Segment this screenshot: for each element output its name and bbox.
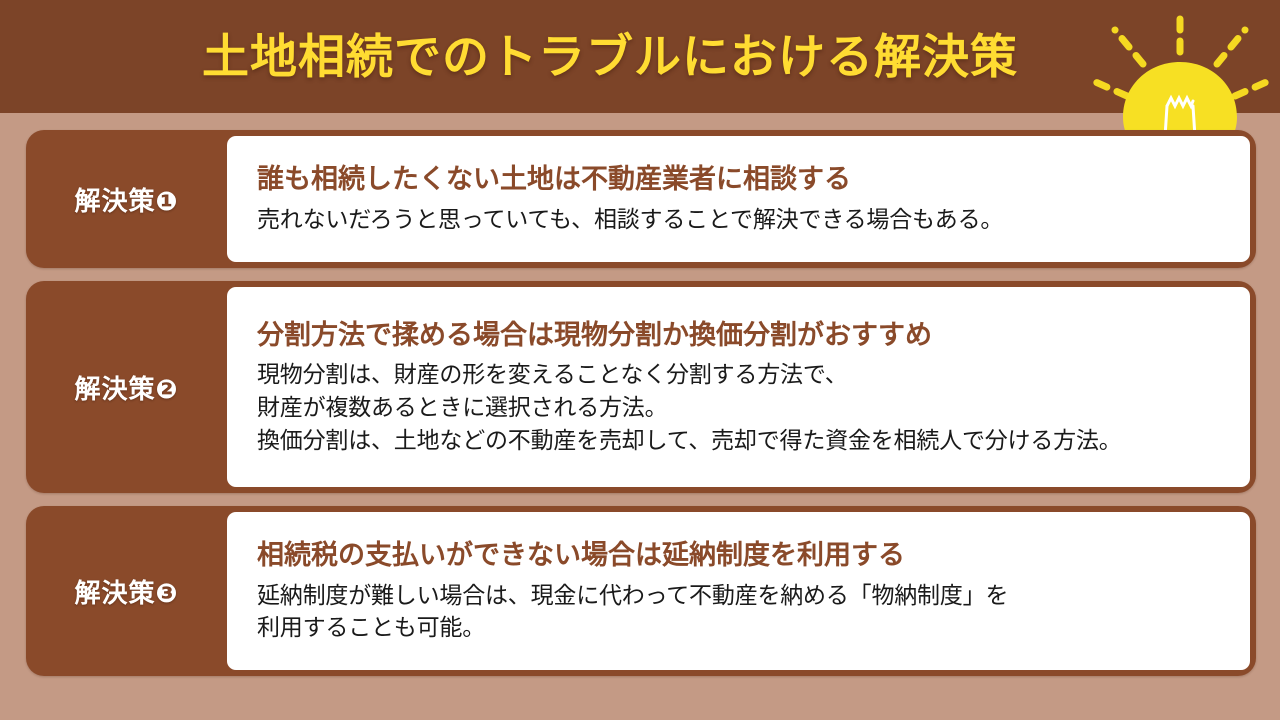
- solution-body-line: 利用することも可能。: [257, 611, 1230, 644]
- solution-card-3[interactable]: 解決策❸ 相続税の支払いができない場合は延納制度を利用する 延納制度が難しい場合…: [26, 506, 1256, 676]
- solution-panel-3: 相続税の支払いができない場合は延納制度を利用する 延納制度が難しい場合は、現金に…: [227, 512, 1250, 670]
- solution-headline-3: 相続税の支払いができない場合は延納制度を利用する: [257, 538, 1230, 573]
- page-title: 土地相続でのトラブルにおける解決策: [0, 0, 1280, 113]
- infographic-slide: 土地相続でのトラブルにおける解決策: [0, 0, 1280, 720]
- header-bar: 土地相続でのトラブルにおける解決策: [0, 0, 1280, 113]
- solution-body-line: 財産が複数あるときに選択される方法。: [257, 391, 1230, 424]
- solution-headline-1: 誰も相続したくない土地は不動産業者に相談する: [257, 162, 1230, 197]
- solution-headline-2: 分割方法で揉める場合は現物分割か換価分割がおすすめ: [257, 318, 1230, 353]
- solution-body-line: 延納制度が難しい場合は、現金に代わって不動産を納める「物納制度」を: [257, 579, 1230, 612]
- solution-badge-3: 解決策❸: [26, 506, 227, 676]
- solution-body-line: 換価分割は、土地などの不動産を売却して、売却で得た資金を相続人で分ける方法。: [257, 424, 1230, 457]
- solution-badge-1: 解決策❶: [26, 130, 227, 268]
- solution-panel-1: 誰も相続したくない土地は不動産業者に相談する 売れないだろうと思っていても、相談…: [227, 136, 1250, 262]
- solution-card-2[interactable]: 解決策❷ 分割方法で揉める場合は現物分割か換価分割がおすすめ 現物分割は、財産の…: [26, 281, 1256, 493]
- solution-body-line: 売れないだろうと思っていても、相談することで解決できる場合もある。: [257, 203, 1230, 236]
- solution-card-1[interactable]: 解決策❶ 誰も相続したくない土地は不動産業者に相談する 売れないだろうと思ってい…: [26, 130, 1256, 268]
- solution-body-line: 現物分割は、財産の形を変えることなく分割する方法で、: [257, 358, 1230, 391]
- solution-panel-2: 分割方法で揉める場合は現物分割か換価分割がおすすめ 現物分割は、財産の形を変える…: [227, 287, 1250, 487]
- solution-badge-2: 解決策❷: [26, 281, 227, 493]
